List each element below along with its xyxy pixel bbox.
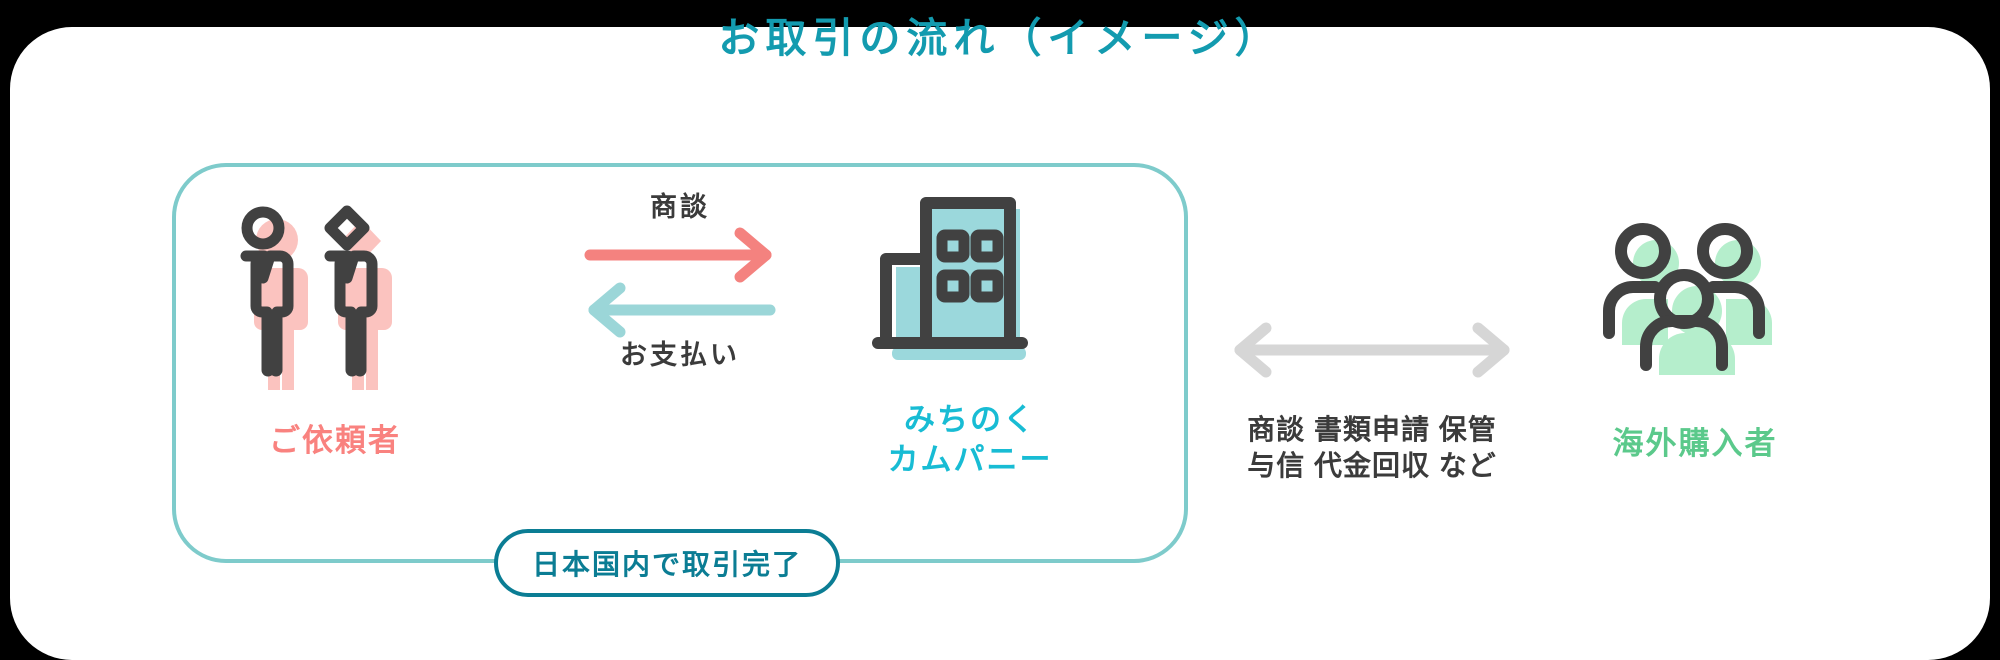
back-arrow-label: お支払い	[540, 333, 820, 372]
company-label: みちのく カムパニー	[810, 400, 1130, 479]
group-of-people-icon	[1570, 215, 1820, 385]
company-label-line1: みちのく	[810, 400, 1130, 440]
overseas-buyer-block: 海外購入者	[1570, 215, 1820, 475]
office-building-icon	[840, 195, 1100, 375]
page-title: お取引の流れ（イメージ）	[0, 4, 2000, 64]
overseas-services-line1: 商談 書類申請 保管	[1222, 412, 1522, 448]
forward-arrow-label: 商談	[540, 185, 820, 224]
client-label: ご依頼者	[195, 415, 475, 460]
company-label-line2: カムパニー	[810, 440, 1130, 480]
double-headed-arrow-icon	[1222, 320, 1522, 385]
overseas-services-text: 商談 書類申請 保管 与信 代金回収 など	[1222, 412, 1522, 485]
overseas-services-line2: 与信 代金回収 など	[1222, 448, 1522, 484]
buyer-label: 海外購入者	[1555, 418, 1835, 463]
two-business-people-icon	[215, 200, 455, 385]
company-block: みちのく カムパニー	[840, 195, 1100, 495]
diagram-stage: お取引の流れ（イメージ）	[0, 0, 2000, 660]
overseas-flow-block: 商談 書類申請 保管 与信 代金回収 など	[1222, 320, 1522, 500]
status-badge: 日本国内で取引完了	[494, 529, 840, 597]
client-block: ご依頼者	[215, 200, 455, 460]
domestic-flow-arrows: 商談 お支払い	[540, 185, 820, 425]
